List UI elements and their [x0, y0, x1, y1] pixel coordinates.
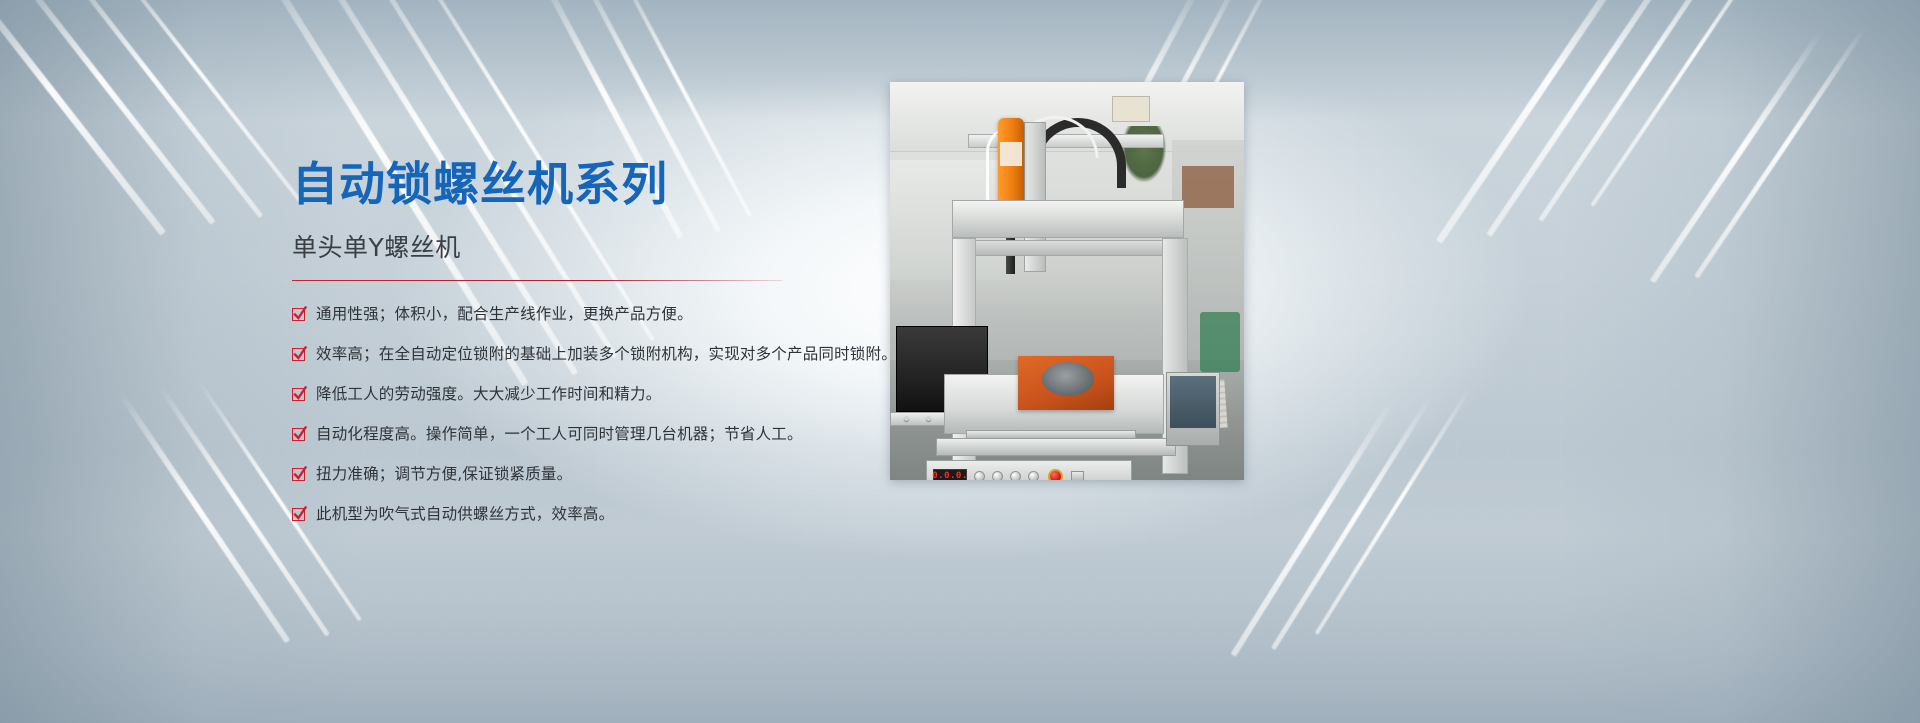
- title-divider: [292, 280, 782, 281]
- emergency-stop-button[interactable]: [1048, 469, 1063, 481]
- list-item: 此机型为吹气式自动供螺丝方式，效率高。: [292, 503, 892, 531]
- banner-content: 自动锁螺丝机系列 单头单Y螺丝机 通用性强；体积小，配合生产线作业，更换产品方便…: [292, 160, 892, 543]
- product-photo-image: 0.0.0.: [890, 82, 1244, 480]
- check-icon: [292, 428, 305, 441]
- gantry-beam: [952, 200, 1184, 238]
- wall-poster: [1112, 96, 1150, 122]
- feature-list: 通用性强；体积小，配合生产线作业，更换产品方便。 效率高；在全自动定位锁附的基础…: [292, 303, 892, 531]
- gantry-rail: [952, 240, 1184, 256]
- screwdriver-label: [1000, 142, 1022, 166]
- digital-display: 0.0.0.: [933, 469, 967, 481]
- panel-button[interactable]: [974, 471, 985, 481]
- check-icon: [292, 348, 305, 361]
- feature-text: 自动化程度高。操作简单，一个工人可同时管理几台机器；节省人工。: [316, 423, 803, 446]
- list-item: 自动化程度高。操作简单，一个工人可同时管理几台机器；节省人工。: [292, 423, 892, 451]
- check-icon: [292, 388, 305, 401]
- display-value: 0.0.0.: [932, 471, 968, 480]
- workpiece: [1042, 362, 1094, 396]
- feature-text: 此机型为吹气式自动供螺丝方式，效率高。: [316, 503, 614, 526]
- feature-text: 降低工人的劳动强度。大大减少工作时间和精力。: [316, 383, 661, 406]
- machine-base: [936, 438, 1176, 456]
- list-item: 效率高；在全自动定位锁附的基础上加装多个锁附机构，实现对多个产品同时锁附。: [292, 343, 892, 371]
- page-subtitle: 单头单Y螺丝机: [292, 228, 892, 264]
- check-icon: [292, 468, 305, 481]
- panel-button[interactable]: [992, 471, 1003, 481]
- page-title: 自动锁螺丝机系列: [292, 160, 892, 210]
- feature-text: 效率高；在全自动定位锁附的基础上加装多个锁附机构，实现对多个产品同时锁附。: [316, 343, 897, 366]
- control-panel[interactable]: 0.0.0.: [926, 460, 1132, 480]
- list-item: 通用性强；体积小，配合生产线作业，更换产品方便。: [292, 303, 892, 331]
- feeder-bolt: [926, 416, 931, 421]
- list-item: 扭力准确；调节方便,保证锁紧质量。: [292, 463, 892, 491]
- power-switch[interactable]: [1071, 471, 1084, 481]
- check-icon: [292, 308, 305, 321]
- product-banner: 自动锁螺丝机系列 单头单Y螺丝机 通用性强；体积小，配合生产线作业，更换产品方便…: [0, 0, 1920, 723]
- check-icon: [292, 508, 305, 521]
- list-item: 降低工人的劳动强度。大大减少工作时间和精力。: [292, 383, 892, 411]
- panel-button[interactable]: [1010, 471, 1021, 481]
- feature-text: 扭力准确；调节方便,保证锁紧质量。: [316, 463, 572, 486]
- product-photo: 0.0.0.: [890, 82, 1244, 480]
- feeder-bolt: [904, 416, 909, 421]
- waste-bin: [1200, 312, 1240, 372]
- feature-text: 通用性强；体积小，配合生产线作业，更换产品方便。: [316, 303, 693, 326]
- background-floor: [0, 533, 1920, 723]
- cardboard-box: [1182, 166, 1234, 208]
- panel-button[interactable]: [1028, 471, 1039, 481]
- hmi-screen: [1170, 376, 1216, 428]
